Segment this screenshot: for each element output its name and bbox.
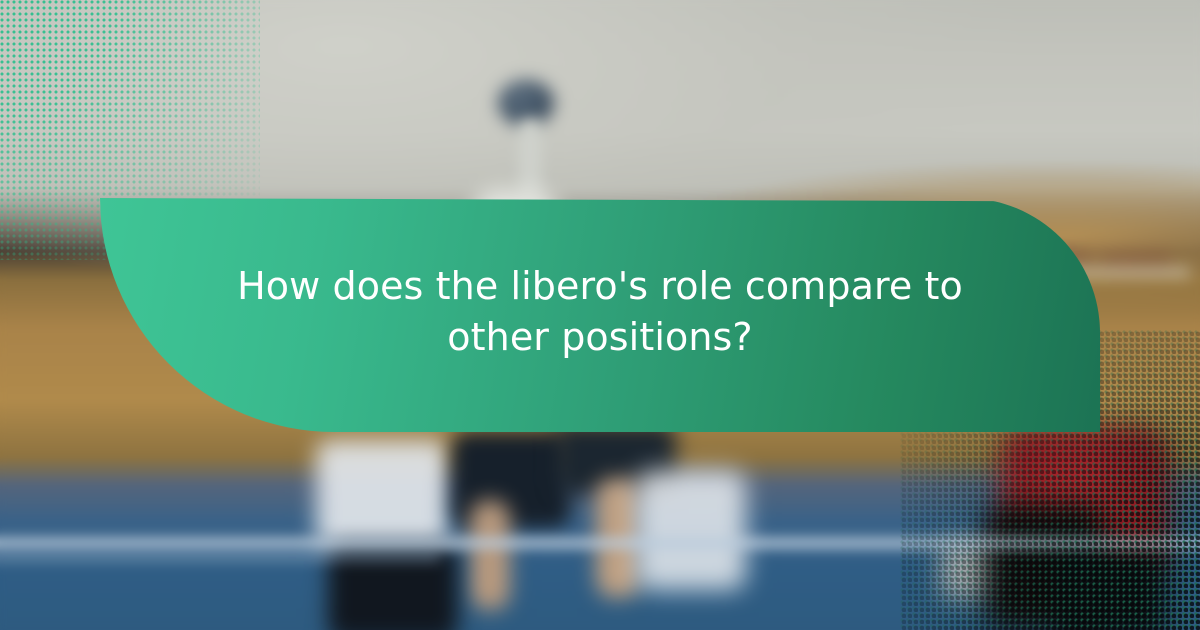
question-banner: How does the libero's role compare to ot… <box>100 198 1100 432</box>
question-title: How does the libero's role compare to ot… <box>218 261 982 362</box>
banner-text-container: How does the libero's role compare to ot… <box>100 198 1100 432</box>
screenshot-canvas: How does the libero's role compare to ot… <box>0 0 1200 630</box>
